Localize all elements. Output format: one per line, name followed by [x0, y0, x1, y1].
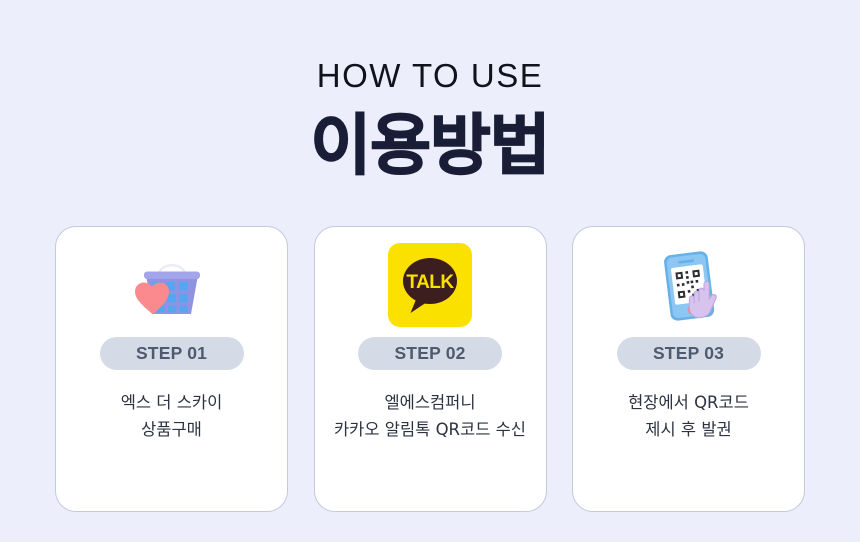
- shopping-basket-heart-icon: [56, 227, 287, 337]
- step-badge-1: STEP 01: [100, 337, 244, 370]
- steps-card-row: STEP 01 엑스 더 스카이 상품구매 TALK STEP 02 엘에스컴퍼…: [55, 226, 805, 514]
- step-caption-2: 엘에스컴퍼니 카카오 알림톡 QR코드 수신: [328, 390, 532, 443]
- svg-text:TALK: TALK: [406, 272, 454, 293]
- kakaotalk-logo-icon: TALK: [315, 227, 546, 337]
- page-title: 이용방법: [0, 94, 860, 183]
- step-caption-2-line1: 엘에스컴퍼니: [384, 393, 475, 412]
- step-caption-1-line2: 상품구매: [121, 417, 223, 444]
- step-caption-1-line1: 엑스 더 스카이: [121, 393, 223, 412]
- step-caption-3-line1: 현장에서 QR코드: [628, 393, 749, 412]
- page-root: HOW TO USE 이용방법: [0, 0, 860, 542]
- step-card-1[interactable]: STEP 01 엑스 더 스카이 상품구매: [55, 226, 288, 512]
- step-caption-3-line2: 제시 후 발권: [628, 417, 749, 444]
- step-caption-1: 엑스 더 스카이 상품구매: [115, 390, 229, 443]
- page-header: HOW TO USE 이용방법: [0, 0, 860, 183]
- step-card-2[interactable]: TALK STEP 02 엘에스컴퍼니 카카오 알림톡 QR코드 수신: [314, 226, 547, 512]
- step-badge-3: STEP 03: [617, 337, 761, 370]
- step-badge-2: STEP 02: [358, 337, 502, 370]
- step-caption-3: 현장에서 QR코드 제시 후 발권: [622, 390, 755, 443]
- step-card-3[interactable]: STEP 03 현장에서 QR코드 제시 후 발권: [572, 226, 805, 512]
- step-caption-2-line2: 카카오 알림톡 QR코드 수신: [334, 417, 526, 444]
- page-eyebrow: HOW TO USE: [0, 0, 860, 94]
- phone-qr-code-tap-icon: [573, 227, 804, 337]
